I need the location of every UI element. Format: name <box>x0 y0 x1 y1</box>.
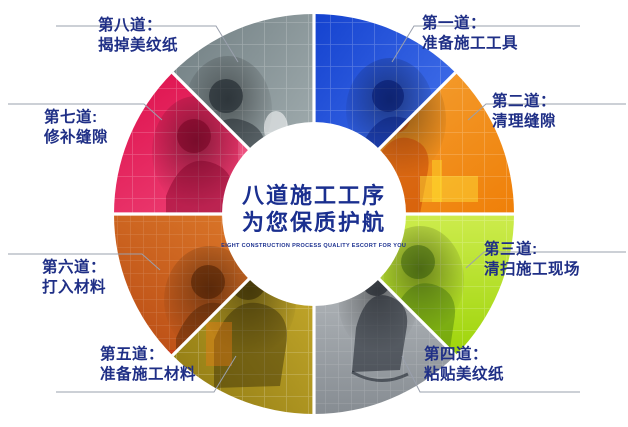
step-6-name: 打入材料 <box>42 278 106 298</box>
step-3-name: 清扫施工现场 <box>484 260 580 280</box>
step-2-name: 清理缝隙 <box>492 112 556 132</box>
step-label-7[interactable]: 第七道: 修补缝隙 <box>44 108 108 148</box>
step-2-number: 第二道： <box>492 92 556 112</box>
step-label-3[interactable]: 第三道: 清扫施工现场 <box>484 240 580 280</box>
step-7-name: 修补缝隙 <box>44 128 108 148</box>
wheel-center-hub <box>222 122 406 306</box>
step-4-name: 粘贴美纹纸 <box>424 365 504 385</box>
step-label-2[interactable]: 第二道： 清理缝隙 <box>492 92 556 132</box>
step-label-6[interactable]: 第六道： 打入材料 <box>42 258 106 298</box>
step-8-name: 揭掉美纹纸 <box>98 36 178 56</box>
step-7-number: 第七道: <box>44 108 108 128</box>
step-1-number: 第一道： <box>422 14 518 34</box>
step-3-number: 第三道: <box>484 240 580 260</box>
step-5-number: 第五道： <box>100 345 196 365</box>
wheel-graphic <box>0 0 628 427</box>
infographic-wheel-diagram: 八道施工工序 为您保质护航 EIGHT CONSTRUCTION PROCESS… <box>0 0 628 427</box>
step-5-name: 准备施工材料 <box>100 365 196 385</box>
step-8-number: 第八道： <box>98 16 178 36</box>
step-label-1[interactable]: 第一道： 准备施工工具 <box>422 14 518 54</box>
step-1-name: 准备施工工具 <box>422 34 518 54</box>
step-6-number: 第六道： <box>42 258 106 278</box>
step-4-number: 第四道： <box>424 345 504 365</box>
step-label-8[interactable]: 第八道： 揭掉美纹纸 <box>98 16 178 56</box>
step-label-4[interactable]: 第四道： 粘贴美纹纸 <box>424 345 504 385</box>
step-label-5[interactable]: 第五道： 准备施工材料 <box>100 345 196 385</box>
